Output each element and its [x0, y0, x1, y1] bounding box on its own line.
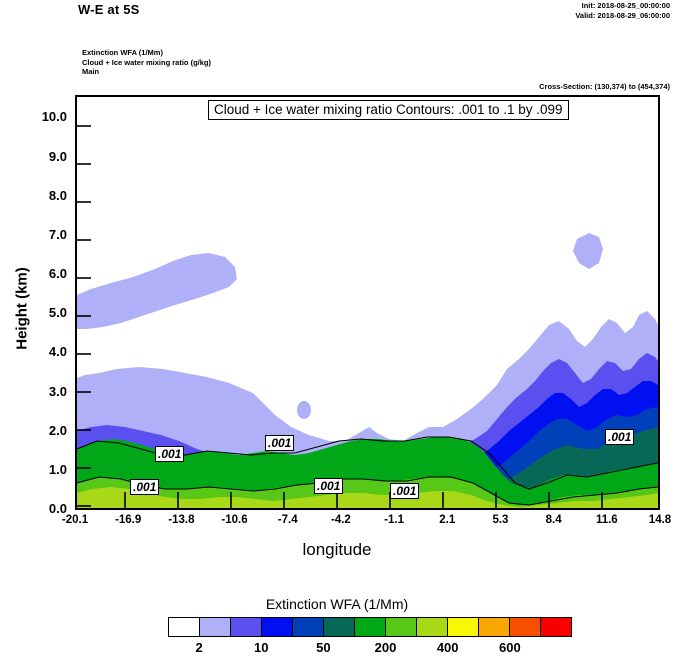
y-tick-label: 9.0 — [7, 149, 67, 164]
contour-label-text: .001 — [393, 484, 416, 498]
colorbar-tick-label: 400 — [418, 640, 478, 655]
colorbar-tick-label: 2 — [169, 640, 229, 655]
colorbar-segment — [293, 618, 324, 636]
colorbar-segment — [355, 618, 386, 636]
contour-label: .001 — [390, 483, 419, 499]
y-tick-label: 3.0 — [7, 384, 67, 399]
cross-section-label: Cross-Section: (130,374) to (454,374) — [539, 82, 670, 91]
contour-legend-banner: Cloud + Ice water mixing ratio Contours:… — [208, 100, 569, 120]
colorbar-segment — [541, 618, 571, 636]
colorbar-segment — [386, 618, 417, 636]
contour-label: .001 — [155, 446, 184, 462]
contour-label: .001 — [314, 478, 343, 494]
colorbar-tick-label: 200 — [356, 640, 416, 655]
colorbar-segment — [324, 618, 355, 636]
colorbar — [168, 617, 572, 637]
timestamp-block: Init: 2018-08-25_00:00:00 Valid: 2018-08… — [575, 1, 670, 20]
y-tick-label: 1.0 — [7, 462, 67, 477]
colorbar-segment — [479, 618, 510, 636]
y-tick-label: 4.0 — [7, 344, 67, 359]
contour-label: .001 — [265, 435, 294, 451]
y-tick-label: 10.0 — [7, 109, 67, 124]
contour-label-text: .001 — [608, 430, 631, 444]
contour-label-text: .001 — [133, 480, 156, 494]
valid-timestamp: Valid: 2018-08-29_06:00:00 — [575, 11, 670, 21]
band-level1-blob — [297, 401, 311, 419]
colorbar-segment — [262, 618, 293, 636]
page-title: W-E at 5S — [78, 2, 140, 17]
init-timestamp: Init: 2018-08-25_00:00:00 — [575, 1, 670, 11]
y-tick-label: 6.0 — [7, 266, 67, 281]
colorbar-segment — [200, 618, 231, 636]
contour-label-text: .001 — [158, 447, 181, 461]
y-tick-label: 2.0 — [7, 423, 67, 438]
colorbar-segment — [169, 618, 200, 636]
colorbar-segment — [448, 618, 479, 636]
x-axis-label: longitude — [0, 540, 674, 560]
y-tick-label: 5.0 — [7, 305, 67, 320]
colorbar-tick-label: 10 — [231, 640, 291, 655]
subtitle-line-domain: Main — [82, 67, 211, 77]
colorbar-segment — [417, 618, 448, 636]
contour-label: .001 — [130, 479, 159, 495]
subtitle-line-extinction: Extinction WFA (1/Mm) — [82, 48, 211, 58]
contour-label-text: .001 — [317, 479, 340, 493]
colorbar-segment — [510, 618, 541, 636]
colorbar-tick-label: 600 — [480, 640, 540, 655]
contour-label: .001 — [605, 429, 634, 445]
colorbar-title: Extinction WFA (1/Mm) — [0, 596, 674, 612]
y-tick-label: 7.0 — [7, 227, 67, 242]
colorbar-segment — [231, 618, 262, 636]
colorbar-tick-label: 50 — [293, 640, 353, 655]
y-tick-label: 8.0 — [7, 188, 67, 203]
contour-label-text: .001 — [268, 436, 291, 450]
x-tick-label: 14.8 — [625, 514, 674, 526]
variable-subtitle: Extinction WFA (1/Mm) Cloud + Ice water … — [82, 48, 211, 77]
subtitle-line-mixing-ratio: Cloud + Ice water mixing ratio (g/kg) — [82, 58, 211, 68]
